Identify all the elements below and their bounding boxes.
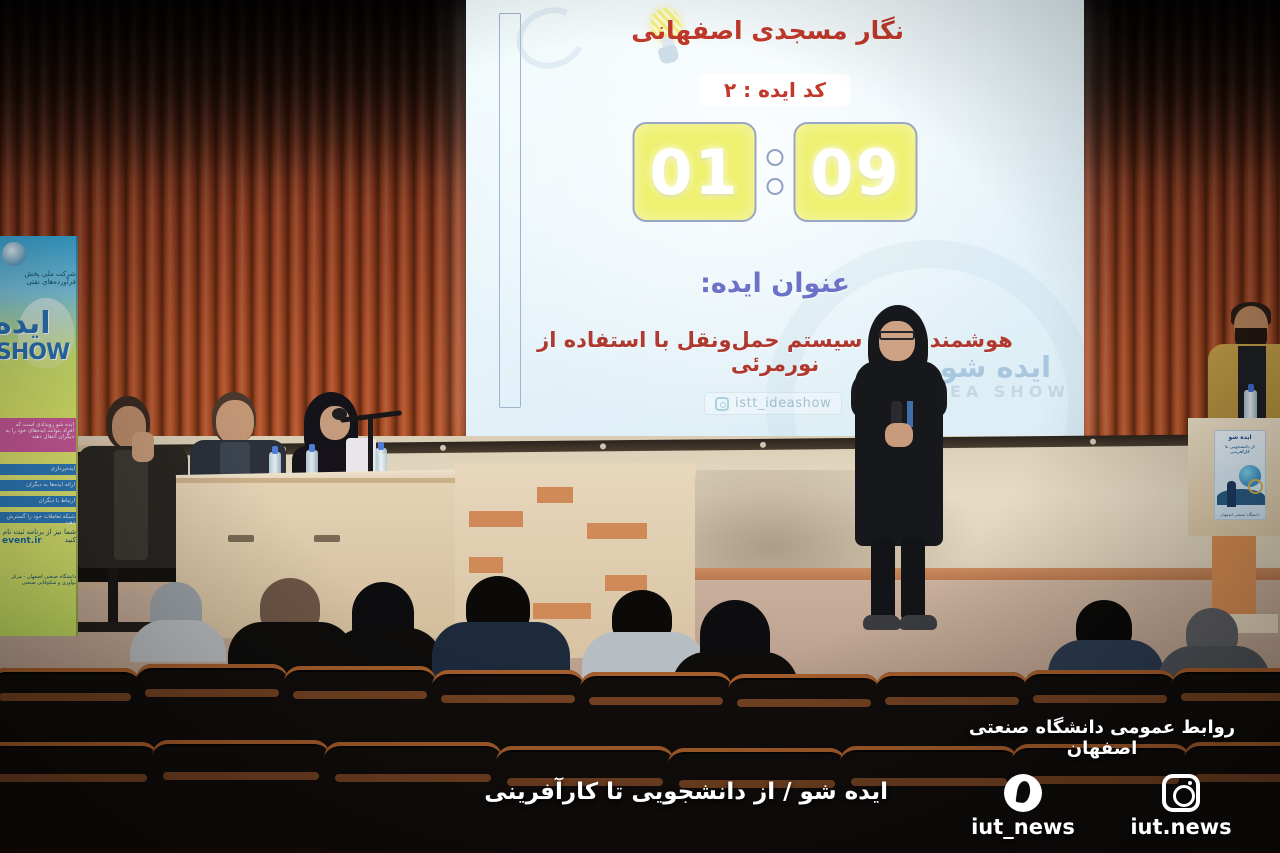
social-instagram[interactable]: iut.news xyxy=(1126,773,1236,839)
countdown-timer: 01 09 xyxy=(633,122,918,222)
video-caption: ایده شو / از دانشجویی تا کارآفرینی xyxy=(484,779,888,805)
host-at-podium xyxy=(1212,306,1280,436)
auditorium-seat xyxy=(136,664,288,748)
poster-subtitle: از دانشجویی تا کارآفرینی xyxy=(1215,444,1265,454)
banner-row: ارتباط با دیگران xyxy=(0,496,78,507)
eitaa-icon[interactable] xyxy=(1004,774,1042,812)
public-relations-overlay: روابط عمومی دانشگاه صنعتی اصفهان iut_new… xyxy=(942,717,1262,839)
eitaa-handle: iut_news xyxy=(968,815,1078,839)
slide-idea-label: عنوان ایده: xyxy=(700,268,850,299)
auditorium-seat xyxy=(284,666,436,750)
auditorium-seat xyxy=(324,742,502,850)
audience-shoulders xyxy=(130,620,226,662)
slide-idea-code: کد ایده : ۲ xyxy=(700,74,850,106)
poster-footer: دانشگاه صنعتی اصفهان xyxy=(1215,512,1265,517)
glasses-icon xyxy=(879,331,915,340)
instagram-icon xyxy=(715,397,729,411)
banner-row: ارائه ایده‌ها به دیگران xyxy=(0,480,78,491)
auditorium-scene: نگار مسجدی اصفهانی کد ایده : ۲ 01 09 عنو… xyxy=(0,0,1280,853)
social-links: iut_news iut.news xyxy=(942,773,1262,839)
banner-row: ایده‌پردازی xyxy=(0,464,78,475)
banner-url: event.ir xyxy=(2,536,42,546)
magnifier-icon xyxy=(1248,479,1263,494)
timer-seconds: 09 xyxy=(810,136,900,209)
auditorium-seat xyxy=(0,668,140,750)
banner-idea-fa: ایده xyxy=(0,306,51,341)
auditorium-seat xyxy=(152,740,330,848)
timer-minutes-box: 01 xyxy=(633,122,757,222)
poster-title: ایده شو xyxy=(1215,434,1265,441)
timer-colon-icon xyxy=(763,149,788,195)
social-eitaa[interactable]: iut_news xyxy=(968,773,1078,839)
slide-handle-text: istt_ideashow xyxy=(735,396,831,411)
timer-minutes: 01 xyxy=(649,136,739,209)
projection-screen: نگار مسجدی اصفهانی کد ایده : ۲ 01 09 عنو… xyxy=(466,0,1084,443)
banner-row: شبکه تعاملات خود را گسترش دهید xyxy=(0,512,78,523)
university-logo xyxy=(2,242,26,266)
timer-seconds-box: 09 xyxy=(794,122,918,222)
banner-show-en: SHOW xyxy=(0,340,69,365)
judge-1 xyxy=(78,396,188,566)
slide-social-handle: istt_ideashow xyxy=(704,392,842,415)
instagram-icon[interactable] xyxy=(1162,774,1200,812)
podium-poster: ایده شو از دانشجویی تا کارآفرینی دانشگاه… xyxy=(1214,430,1266,520)
microphone-head xyxy=(332,408,347,420)
pr-title: روابط عمومی دانشگاه صنعتی اصفهان xyxy=(942,717,1262,759)
instagram-handle: iut.news xyxy=(1126,815,1236,839)
auditorium-seat xyxy=(0,742,158,848)
banner-sponsor-line: شرکت ملی پخش فرآورده‌های نفتی xyxy=(2,270,76,286)
banner-pink-text: ایده شو رویدادی است که افراد بتوانند اید… xyxy=(0,418,78,452)
slide-presenter-name: نگار مسجدی اصفهانی xyxy=(631,16,904,45)
auditorium-seat xyxy=(580,672,732,756)
